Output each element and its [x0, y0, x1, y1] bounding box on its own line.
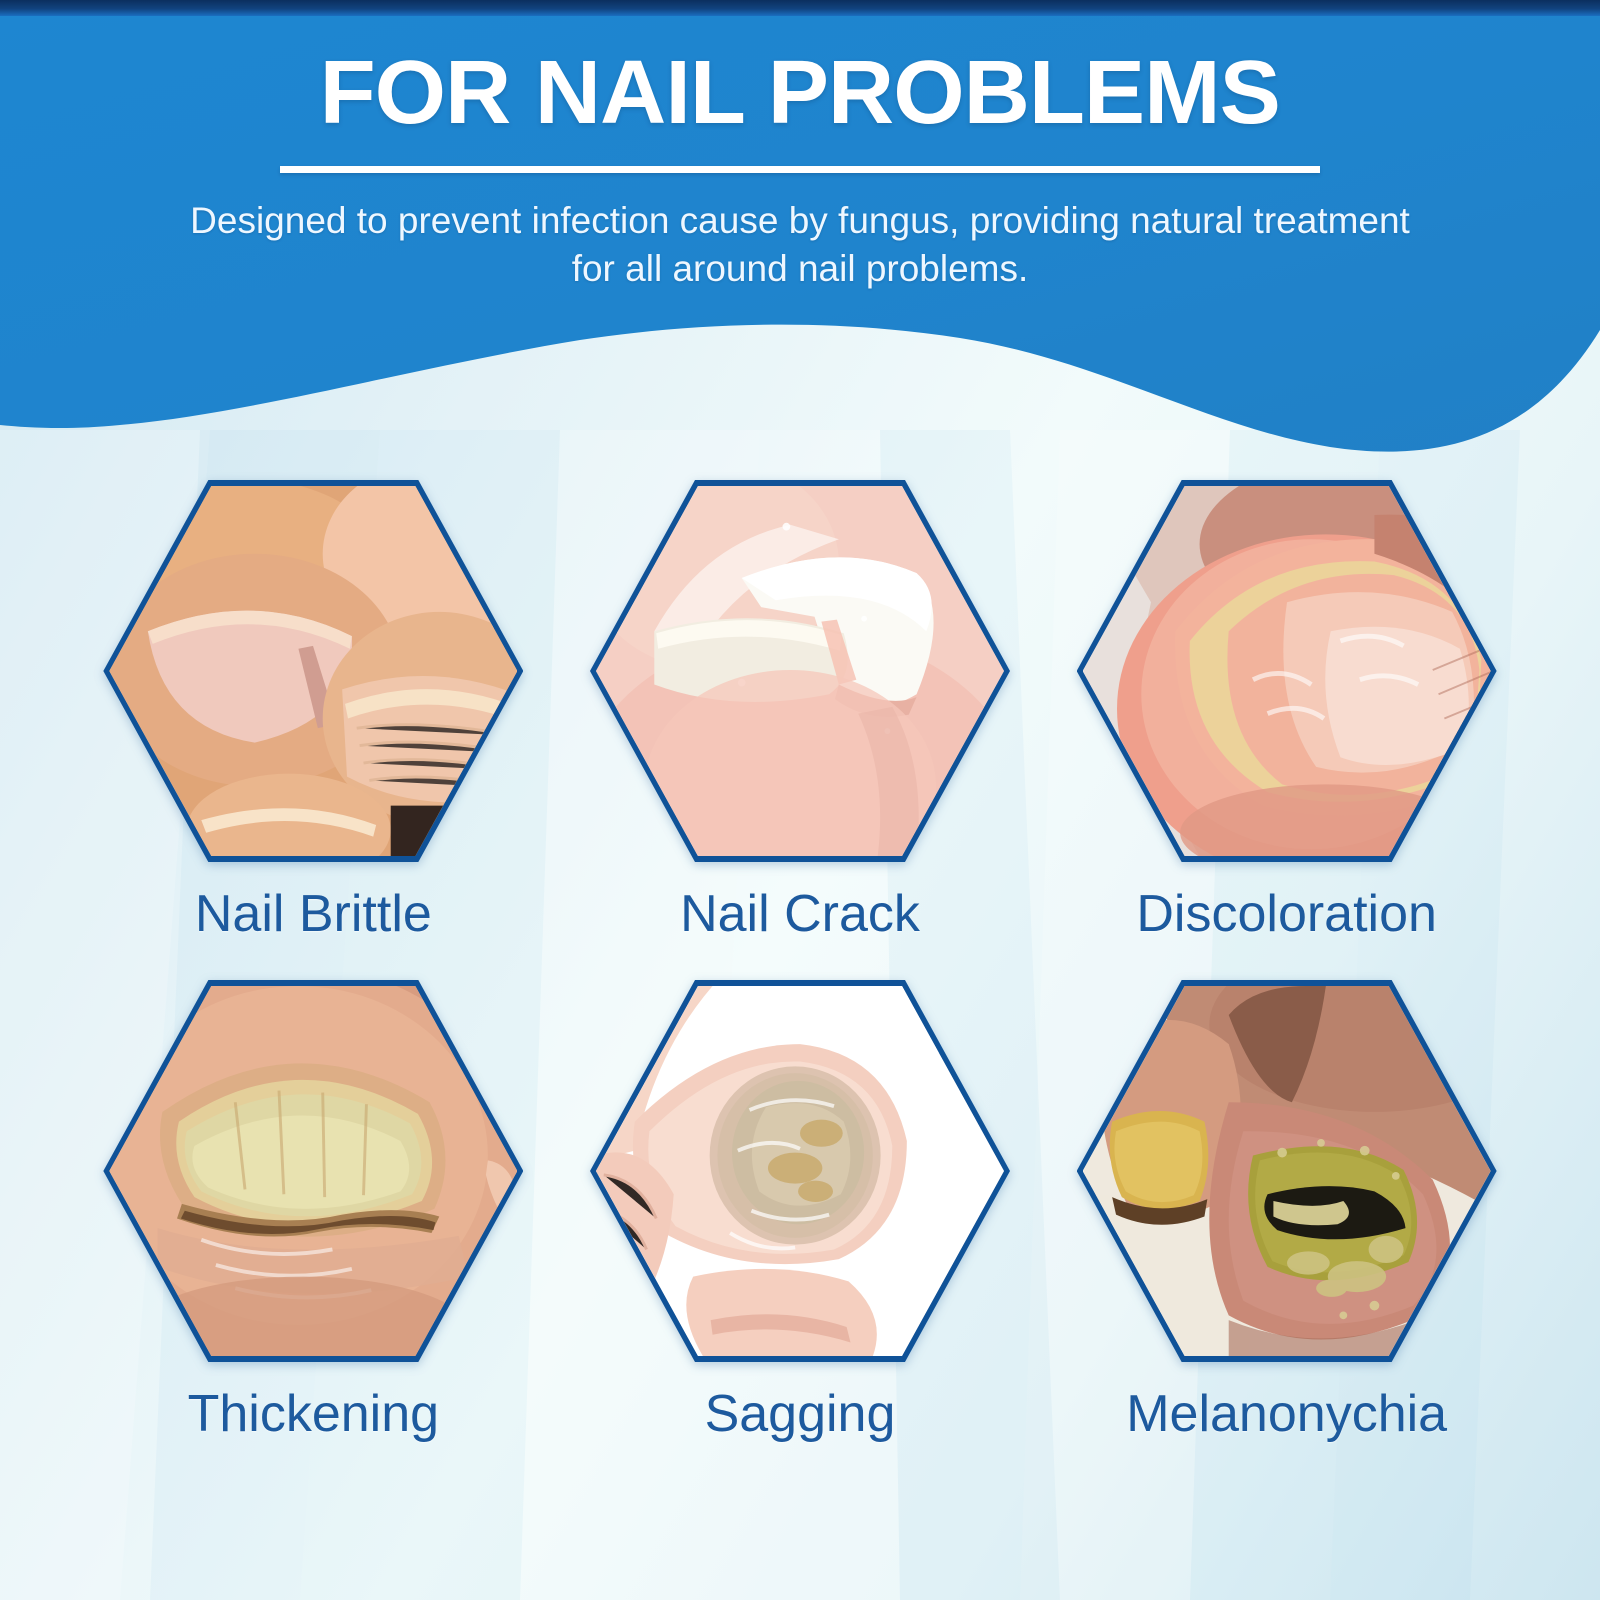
nail-problems-grid: Nail Brittle: [0, 480, 1600, 1480]
hexagon-frame: [103, 980, 523, 1362]
dark-pigmented-toenail-photo: [1083, 986, 1491, 1356]
problem-card-nail-brittle[interactable]: Nail Brittle: [70, 480, 557, 980]
sagging-fingernail-photo: [596, 986, 1004, 1356]
problem-label: Sagging: [705, 1388, 896, 1440]
header-content: FOR NAIL PROBLEMS Designed to prevent in…: [0, 0, 1600, 340]
hexagon-frame: [103, 480, 523, 862]
hexagon-image-clip: [109, 986, 517, 1356]
hexagon-frame: [1077, 980, 1497, 1362]
hexagon-image-clip: [109, 486, 517, 856]
cracked-nail-photo: [596, 486, 1004, 856]
infographic-page: FOR NAIL PROBLEMS Designed to prevent in…: [0, 0, 1600, 1600]
problem-card-melanonychia[interactable]: Melanonychia: [1043, 980, 1530, 1480]
thickened-toenail-photo: [109, 986, 517, 1356]
problem-label: Thickening: [188, 1388, 439, 1440]
discolored-yellow-nail-photo: [1083, 486, 1491, 856]
hexagon-image-clip: [1083, 486, 1491, 856]
hexagon-image-clip: [596, 486, 1004, 856]
title-divider: [280, 166, 1320, 173]
problem-card-sagging[interactable]: Sagging: [557, 980, 1044, 1480]
problem-label: Melanonychia: [1126, 1388, 1447, 1440]
problem-card-thickening[interactable]: Thickening: [70, 980, 557, 1480]
hexagon-frame: [590, 480, 1010, 862]
hexagon-frame: [1077, 480, 1497, 862]
problem-label: Discoloration: [1136, 888, 1437, 940]
problem-card-nail-crack[interactable]: Nail Crack: [557, 480, 1044, 980]
page-subtitle: Designed to prevent infection cause by f…: [170, 197, 1430, 293]
page-title: FOR NAIL PROBLEMS: [320, 48, 1280, 138]
brittle-fingernails-photo: [109, 486, 517, 856]
hexagon-frame: [590, 980, 1010, 1362]
problem-label: Nail Crack: [680, 888, 920, 940]
hexagon-image-clip: [596, 986, 1004, 1356]
problem-label: Nail Brittle: [195, 888, 432, 940]
hexagon-image-clip: [1083, 986, 1491, 1356]
problem-card-discoloration[interactable]: Discoloration: [1043, 480, 1530, 980]
